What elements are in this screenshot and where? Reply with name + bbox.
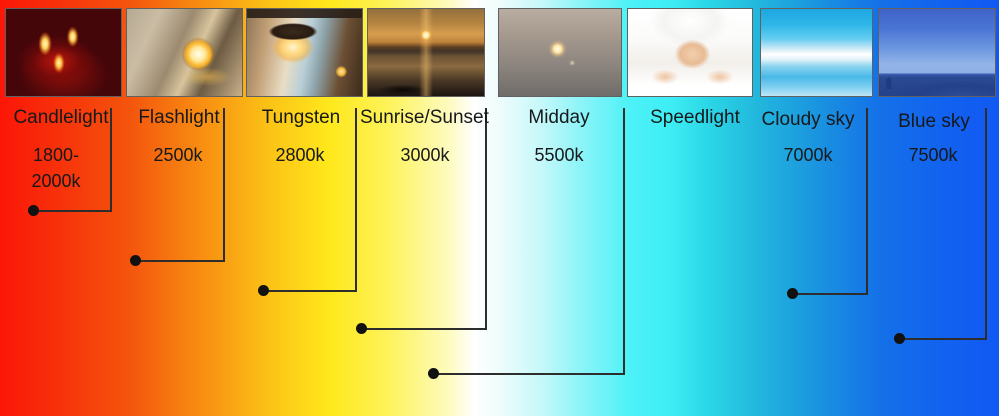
leader-line-flashlight-vertical (223, 108, 225, 262)
leader-line-sunrise-sunset-horizontal (364, 328, 487, 330)
value-candlelight: 1800- 2000k (0, 142, 112, 194)
leader-dot-candlelight (28, 205, 39, 216)
leader-line-tungsten-horizontal (266, 290, 357, 292)
leader-line-sunrise-sunset-vertical (485, 108, 487, 330)
label-flashlight: Flashlight (124, 107, 234, 128)
value-candlelight-line1: 1800- (0, 142, 112, 168)
leader-line-flashlight-horizontal (138, 260, 225, 262)
cloudy-sky-photo (761, 9, 872, 96)
sunset-photo (368, 9, 484, 96)
leader-line-midday-horizontal (436, 373, 625, 375)
leader-dot-sunrise-sunset (356, 323, 367, 334)
leader-line-blue-sky-horizontal (902, 338, 987, 340)
thumbnail-cloudy-sky (760, 8, 873, 97)
thumbnail-blue-sky (878, 8, 996, 97)
thumbnail-speedlight (627, 8, 753, 97)
label-blue-sky: Blue sky (882, 111, 986, 132)
value-tungsten: 2800k (246, 142, 354, 168)
thumbnail-flashlight (126, 8, 243, 97)
label-sunrise-sunset: Sunrise/Sunset (360, 107, 484, 128)
value-flashlight: 2500k (124, 142, 232, 168)
leader-line-candlelight-horizontal (36, 210, 112, 212)
leader-line-blue-sky-vertical (985, 108, 987, 340)
candles-photo (6, 9, 121, 96)
value-candlelight-line2: 2000k (0, 168, 112, 194)
value-sunrise-sunset: 3000k (367, 142, 483, 168)
leader-line-tungsten-vertical (355, 108, 357, 292)
blue-sky-photo (879, 9, 995, 96)
flashlight-photo (127, 9, 242, 96)
leader-line-cloudy-sky-vertical (866, 108, 868, 295)
leader-dot-cloudy-sky (787, 288, 798, 299)
baby-photo (628, 9, 752, 96)
label-candlelight: Candlelight (0, 107, 122, 128)
leader-dot-flashlight (130, 255, 141, 266)
leader-dot-blue-sky (894, 333, 905, 344)
midday-sun-photo (499, 9, 621, 96)
value-cloudy-sky: 7000k (752, 142, 864, 168)
label-speedlight: Speedlight (630, 107, 760, 128)
leader-dot-tungsten (258, 285, 269, 296)
label-tungsten: Tungsten (246, 107, 356, 128)
value-midday: 5500k (500, 142, 618, 168)
thumbnail-tungsten (246, 8, 363, 97)
color-temperature-chart: Candlelight Flashlight Tungsten Sunrise/… (0, 0, 999, 416)
leader-line-midday-vertical (623, 108, 625, 375)
leader-dot-midday (428, 368, 439, 379)
label-midday: Midday (500, 107, 618, 128)
label-cloudy-sky: Cloudy sky (752, 109, 864, 130)
thumbnail-candlelight (5, 8, 122, 97)
thumbnail-midday (498, 8, 622, 97)
leader-line-cloudy-sky-horizontal (795, 293, 868, 295)
thumbnail-sunrise-sunset (367, 8, 485, 97)
value-blue-sky: 7500k (882, 142, 984, 168)
tungsten-lamp-photo (247, 9, 362, 96)
